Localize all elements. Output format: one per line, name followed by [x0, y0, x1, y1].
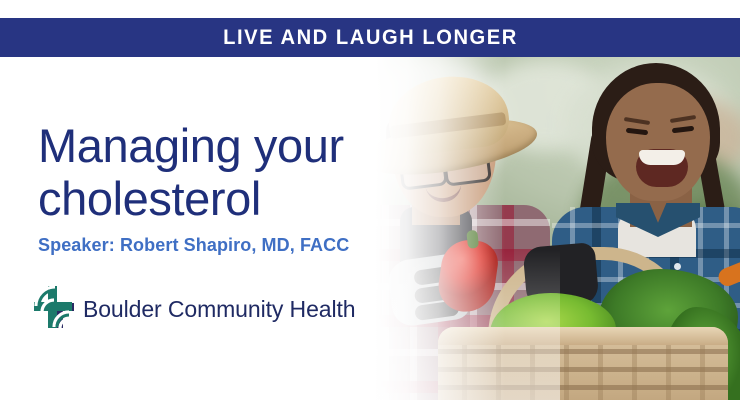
- page-title: Managing your cholesterol: [38, 119, 344, 225]
- title-line-1: Managing your: [38, 119, 344, 172]
- logo-wordmark: Boulder Community Health: [83, 296, 355, 323]
- title-line-2: cholesterol: [38, 172, 344, 225]
- headline-text: LIVE AND LAUGH LONGER: [223, 26, 518, 50]
- headline-banner: LIVE AND LAUGH LONGER: [0, 18, 740, 57]
- teeth: [639, 150, 685, 165]
- speaker-line: Speaker: Robert Shapiro, MD, FACC: [38, 235, 349, 256]
- shirt-button: [674, 263, 681, 270]
- boulder-community-health-logo[interactable]: Boulder Community Health: [34, 286, 355, 333]
- promotional-banner-graphic: LIVE AND LAUGH LONGER Managing your chol…: [0, 0, 740, 400]
- text-content-panel: Managing your cholesterol Speaker: Rober…: [0, 57, 400, 400]
- boulder-community-health-cross-swoosh-icon: [34, 286, 74, 333]
